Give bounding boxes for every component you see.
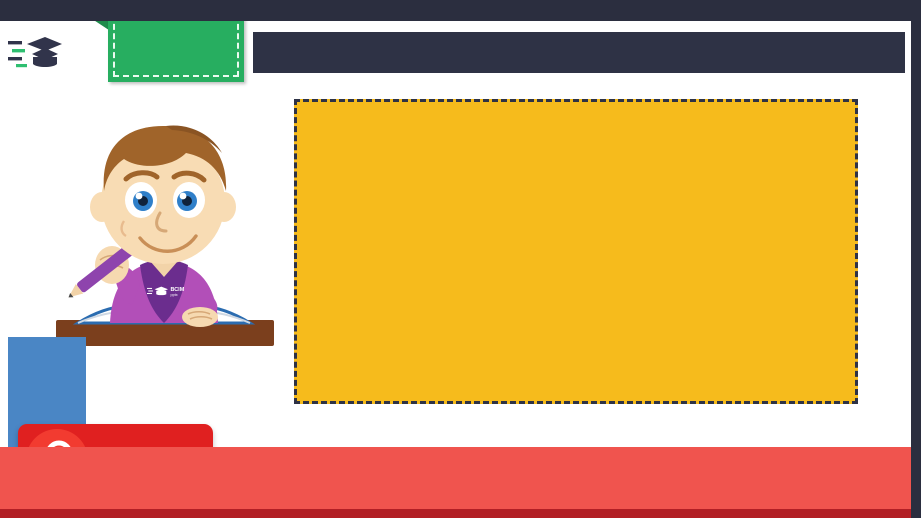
task-box <box>294 99 858 404</box>
presentation-slide: ВСІМ pptx <box>0 0 921 518</box>
graduation-cap-icon <box>8 32 62 77</box>
slide-title-bar <box>253 32 905 73</box>
brand-logo <box>8 28 120 80</box>
slide-frame-right <box>911 0 921 518</box>
svg-text:pptx: pptx <box>171 293 178 297</box>
purchase-banner <box>0 447 911 518</box>
exercise-tag <box>8 337 86 425</box>
slide-frame-top <box>0 0 921 21</box>
banner-bottom-strip <box>0 509 911 518</box>
boy-writing-illustration: ВСІМ pptx <box>20 95 300 360</box>
svg-text:ВСІМ: ВСІМ <box>171 287 185 293</box>
